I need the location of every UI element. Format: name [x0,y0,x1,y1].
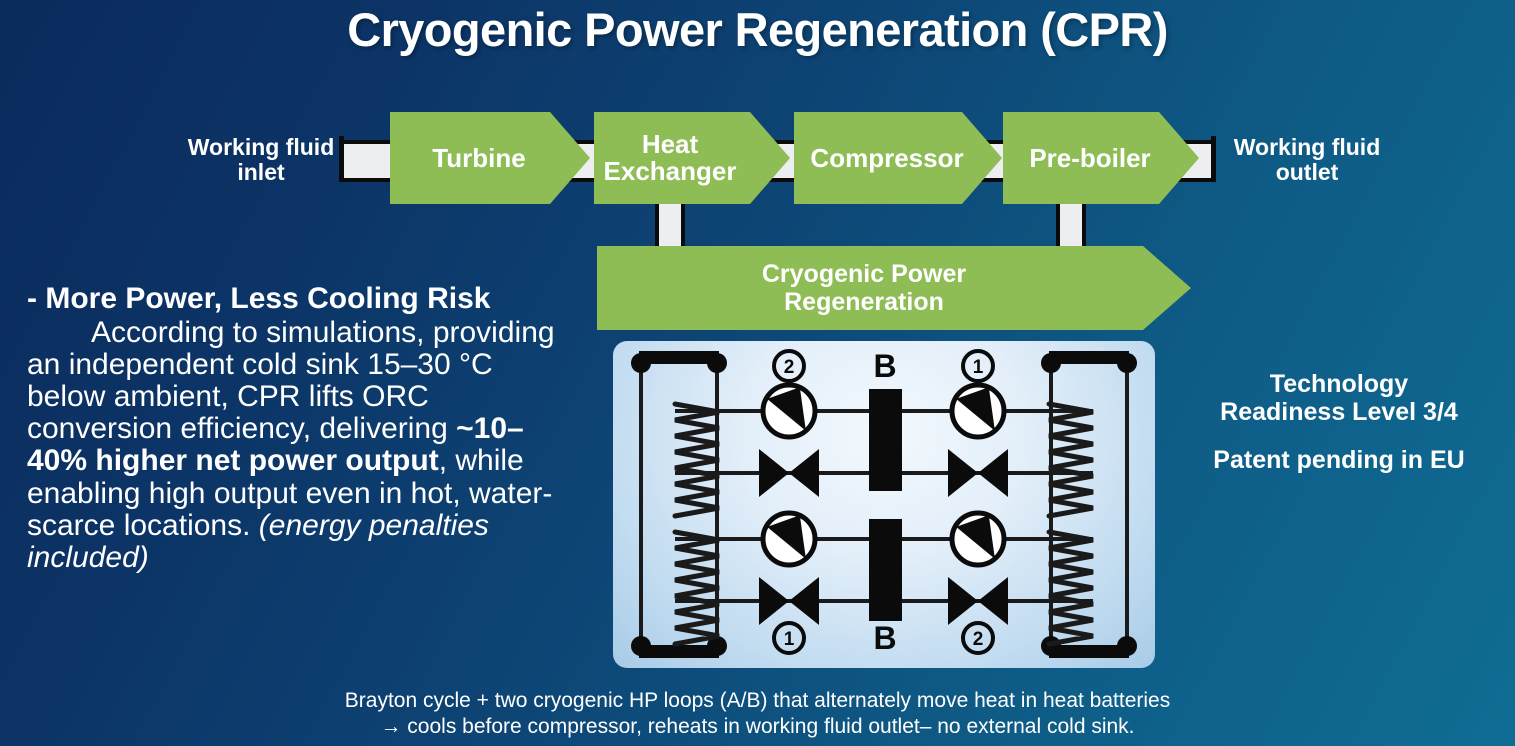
junction-dot-bl-outer [631,636,651,656]
loop-cap-top-left [639,351,719,364]
body-paragraph: According to simulations, providing an i… [27,317,572,574]
loop-cap-bottom-left [639,645,719,658]
junction-dot-tr-outer [1117,353,1137,373]
flow-label-outlet: Working fluid outlet [1222,135,1392,185]
junction-dot-tl-outer [631,353,651,373]
flow-label-inlet-line1: Working [188,134,280,160]
pipe-endcap-right [1211,136,1216,178]
junction-dot-br-outer [1117,636,1137,656]
bus-label-top: B [873,348,896,384]
flow-stage-turbine-label: Turbine [432,145,547,172]
flow-pipe-pre-boiler-drop [1056,196,1086,252]
expansion-valve-bottom-left [759,577,819,625]
loop-cap-top-right [1049,351,1129,364]
cpr-banner-line1: Cryogenic Power [762,260,996,288]
compressor-bottom-left [763,513,815,565]
compressor-top-right [952,385,1004,437]
flow-stage-heat-exchanger-label-line1: Heat [604,131,759,158]
figure-caption-line2: → cools before compressor, reheats in wo… [0,714,1515,740]
loop-cap-bottom-right [1049,645,1129,658]
bus-label-bottom: B [873,620,896,656]
flow-stage-heat-exchanger-label-line2: Exchanger [604,158,759,185]
trl-line1: Technology [1168,370,1510,398]
flow-stage-compressor-label: Compressor [810,145,985,172]
body-copy: - More Power, Less Cooling Risk Accordin… [27,283,572,574]
figure-caption-line1: Brayton cycle + two cryogenic HP loops (… [0,688,1515,714]
page-title: Cryogenic Power Regeneration (CPR) [0,2,1515,57]
heat-battery-coil-left-bottom [675,532,719,644]
figure-caption: Brayton cycle + two cryogenic HP loops (… [0,688,1515,739]
flow-stage-pre-boiler-label: Pre-boiler [1029,145,1172,172]
badge-label-bottom-right: 2 [973,629,984,650]
heat-battery-coil-right-bottom [1049,532,1093,644]
patent-status: Patent pending in EU [1168,446,1510,474]
junction-dot-tr-inner [1041,353,1061,373]
compressor-top-left [763,385,815,437]
badge-label-top-right: 1 [973,357,984,378]
badge-label-bottom-left: 1 [784,629,795,650]
heat-battery-coil-left-top [675,404,719,516]
trl-block: Technology Readiness Level 3/4 Patent pe… [1168,370,1510,474]
schematic-panel: 2 1 B 1 2 B [613,341,1155,668]
body-heading: - More Power, Less Cooling Risk [27,283,572,315]
flow-stage-pre-boiler[interactable]: Pre-boiler [1003,112,1199,204]
pipe-endcap-left [339,136,344,178]
badge-label-top-left: 2 [784,357,795,378]
schematic-svg: 2 1 B 1 2 B [613,341,1155,668]
heat-battery-coil-right-top [1049,404,1093,516]
thermal-bus-b-top [869,389,902,491]
expansion-valve-top-left [759,449,819,497]
trl-line2: Readiness Level 3/4 [1168,398,1510,426]
cpr-banner[interactable]: Cryogenic Power Regeneration [597,246,1191,330]
flow-stage-heat-exchanger[interactable]: Heat Exchanger [594,112,790,204]
thermal-bus-b-bottom [869,519,902,621]
expansion-valve-bottom-right [948,577,1008,625]
flow-label-inlet: Working fluid inlet [186,135,336,185]
flow-label-outlet-line1: Working [1234,134,1326,160]
compressor-bottom-right [952,513,1004,565]
flow-stage-turbine[interactable]: Turbine [390,112,590,204]
slide-canvas: Cryogenic Power Regeneration (CPR) Worki… [0,0,1515,746]
expansion-valve-top-right [948,449,1008,497]
cpr-banner-line2: Regeneration [762,288,996,316]
flow-stage-compressor[interactable]: Compressor [794,112,1002,204]
junction-dot-tl-inner [707,353,727,373]
flow-pipe-heat-exchanger-drop [655,196,685,252]
